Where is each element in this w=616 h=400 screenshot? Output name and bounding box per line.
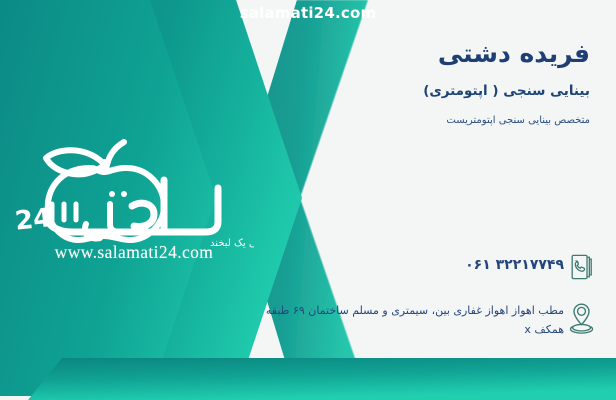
practitioner-specialty-description: متخصص بینایی سنجی اپتومتریست (254, 114, 590, 128)
svg-text:براحتی یک لبخند: براحتی یک لبخند (210, 238, 254, 248)
contact-row-phone: ۳۲۲۱۷۷۴۹ ۰۶۱ (246, 248, 598, 286)
footer-website[interactable]: salamati24.com (0, 4, 616, 22)
svg-text:24: 24 (14, 203, 53, 237)
business-card: salamati24.com (0, 0, 616, 400)
practitioner-specialty: بینایی سنجی ( اپتومتری) (254, 83, 590, 101)
logo-wordmark (46, 180, 218, 238)
contact-block: ۳۲۲۱۷۷۴۹ ۰۶۱ مطب اهواز اهواز غفاری بین، … (246, 248, 598, 352)
salamati-apple-logo-icon: 24 براحتی یک لبخند (14, 128, 254, 248)
practitioner-info: فریده دشتی بینایی سنجی ( اپتومتری) متخصص… (254, 26, 594, 127)
practitioner-name: فریده دشتی (254, 38, 590, 69)
brand-logo: 24 براحتی یک لبخند www.salamati24.com (14, 128, 254, 278)
phone-number[interactable]: ۳۲۲۱۷۷۴۹ ۰۶۱ (246, 248, 564, 276)
map-pin-icon (564, 298, 598, 336)
clinic-address[interactable]: مطب اهواز اهواز غفاری بین، سیمتری و مسلم… (246, 298, 564, 340)
phonebook-icon (564, 248, 598, 286)
contact-row-address: مطب اهواز اهواز غفاری بین، سیمتری و مسلم… (246, 298, 598, 340)
logo-tagline: براحتی یک لبخند (210, 238, 254, 248)
footer-bar (0, 358, 616, 400)
logo-badge-24: 24 (14, 203, 53, 237)
